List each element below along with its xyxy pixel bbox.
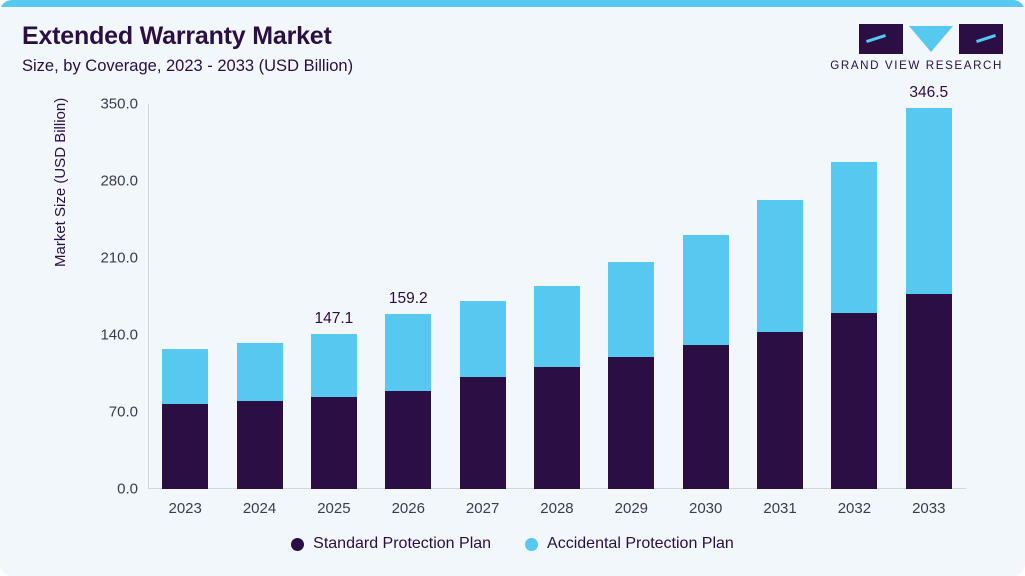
chart-page: Extended Warranty Market Size, by Covera… [0,0,1025,576]
bar-column: 2028 [520,104,594,489]
bar-segment-standard[interactable] [237,401,283,489]
bar-segment-accidental[interactable] [311,334,357,397]
bar-column: 2032 [817,104,891,489]
page-subtitle: Size, by Coverage, 2023 - 2033 (USD Bill… [22,57,353,76]
x-axis-tick: 2032 [838,500,871,517]
stacked-bar[interactable] [162,349,208,489]
stacked-bar[interactable]: 147.1 [311,334,357,489]
x-axis-tick: 2026 [392,500,425,517]
x-axis-tick: 2025 [317,500,350,517]
bar-value-label: 159.2 [389,290,428,308]
bar-segment-standard[interactable] [162,404,208,489]
bar-column: 147.12025 [297,104,371,489]
stacked-bar[interactable] [237,343,283,489]
logo-triangle-icon [909,26,953,52]
bar-segment-accidental[interactable] [831,162,877,313]
legend-color-swatch-icon [525,538,538,551]
bar-segment-accidental[interactable] [906,108,952,294]
bar-segment-accidental[interactable] [534,286,580,368]
legend-item[interactable]: Accidental Protection Plan [525,535,734,553]
stacked-bar[interactable] [460,301,506,489]
logo-marks [830,24,1003,54]
legend-label: Accidental Protection Plan [547,535,734,553]
bar-column: 2027 [445,104,519,489]
stacked-bar[interactable]: 159.2 [385,314,431,489]
y-axis-tick: 350.0 [100,96,138,113]
bar-segment-accidental[interactable] [385,314,431,391]
legend-color-swatch-icon [291,538,304,551]
logo-left-block-icon [859,24,903,54]
bar-segment-standard[interactable] [831,313,877,489]
bar-segment-standard[interactable] [683,345,729,489]
bar-column: 2031 [743,104,817,489]
y-axis-tick: 280.0 [100,173,138,190]
stacked-bar[interactable] [608,262,654,489]
bar-segment-accidental[interactable] [608,262,654,357]
bar-segment-accidental[interactable] [162,349,208,405]
bar-segment-accidental[interactable] [237,343,283,401]
bar-column: 346.52033 [892,104,966,489]
bar-column: 2023 [148,104,222,489]
stacked-bar[interactable]: 346.5 [906,108,952,489]
chart-legend: Standard Protection PlanAccidental Prote… [0,535,1025,553]
y-axis-tick: 0.0 [117,481,138,498]
bar-column: 159.22026 [371,104,445,489]
legend-item[interactable]: Standard Protection Plan [291,535,491,553]
y-axis-title: Market Size (USD Billion) [52,98,69,267]
chart-header: Extended Warranty Market Size, by Covera… [22,22,353,76]
x-axis-tick: 2033 [912,500,945,517]
stacked-bar[interactable] [534,286,580,489]
bar-column: 2030 [669,104,743,489]
bar-segment-accidental[interactable] [757,200,803,332]
y-axis-tick: 210.0 [100,250,138,267]
y-axis-tick: 70.0 [109,404,138,421]
bar-segment-accidental[interactable] [683,235,729,345]
page-title: Extended Warranty Market [22,22,353,51]
bar-column: 2029 [594,104,668,489]
brand-name: GRAND VIEW RESEARCH [830,59,1003,72]
bar-group: 20232024147.12025159.2202620272028202920… [148,104,966,489]
bar-segment-standard[interactable] [757,332,803,489]
x-axis-tick: 2023 [168,500,201,517]
x-axis-tick: 2027 [466,500,499,517]
x-axis-tick: 2030 [689,500,722,517]
plot-canvas: 20232024147.12025159.2202620272028202920… [148,104,966,489]
logo-right-block-icon [959,24,1003,54]
x-axis-tick: 2029 [615,500,648,517]
x-axis-tick: 2024 [243,500,276,517]
bar-segment-standard[interactable] [608,357,654,489]
bar-segment-standard[interactable] [311,397,357,489]
plot-area: Market Size (USD Billion) 20232024147.12… [0,92,1025,512]
bar-segment-standard[interactable] [460,377,506,489]
bar-segment-accidental[interactable] [460,301,506,377]
stacked-bar[interactable] [831,162,877,489]
bar-column: 2024 [222,104,296,489]
bar-segment-standard[interactable] [534,367,580,489]
x-axis-tick: 2028 [540,500,573,517]
bar-segment-standard[interactable] [906,294,952,489]
y-axis-tick: 140.0 [100,327,138,344]
x-axis-tick: 2031 [763,500,796,517]
stacked-bar[interactable] [757,200,803,489]
stacked-bar[interactable] [683,235,729,489]
legend-label: Standard Protection Plan [313,535,491,553]
brand-logo: GRAND VIEW RESEARCH [830,24,1003,72]
top-accent-bar [0,0,1025,7]
bar-segment-standard[interactable] [385,391,431,489]
bar-value-label: 346.5 [909,84,948,102]
bar-value-label: 147.1 [314,310,353,328]
